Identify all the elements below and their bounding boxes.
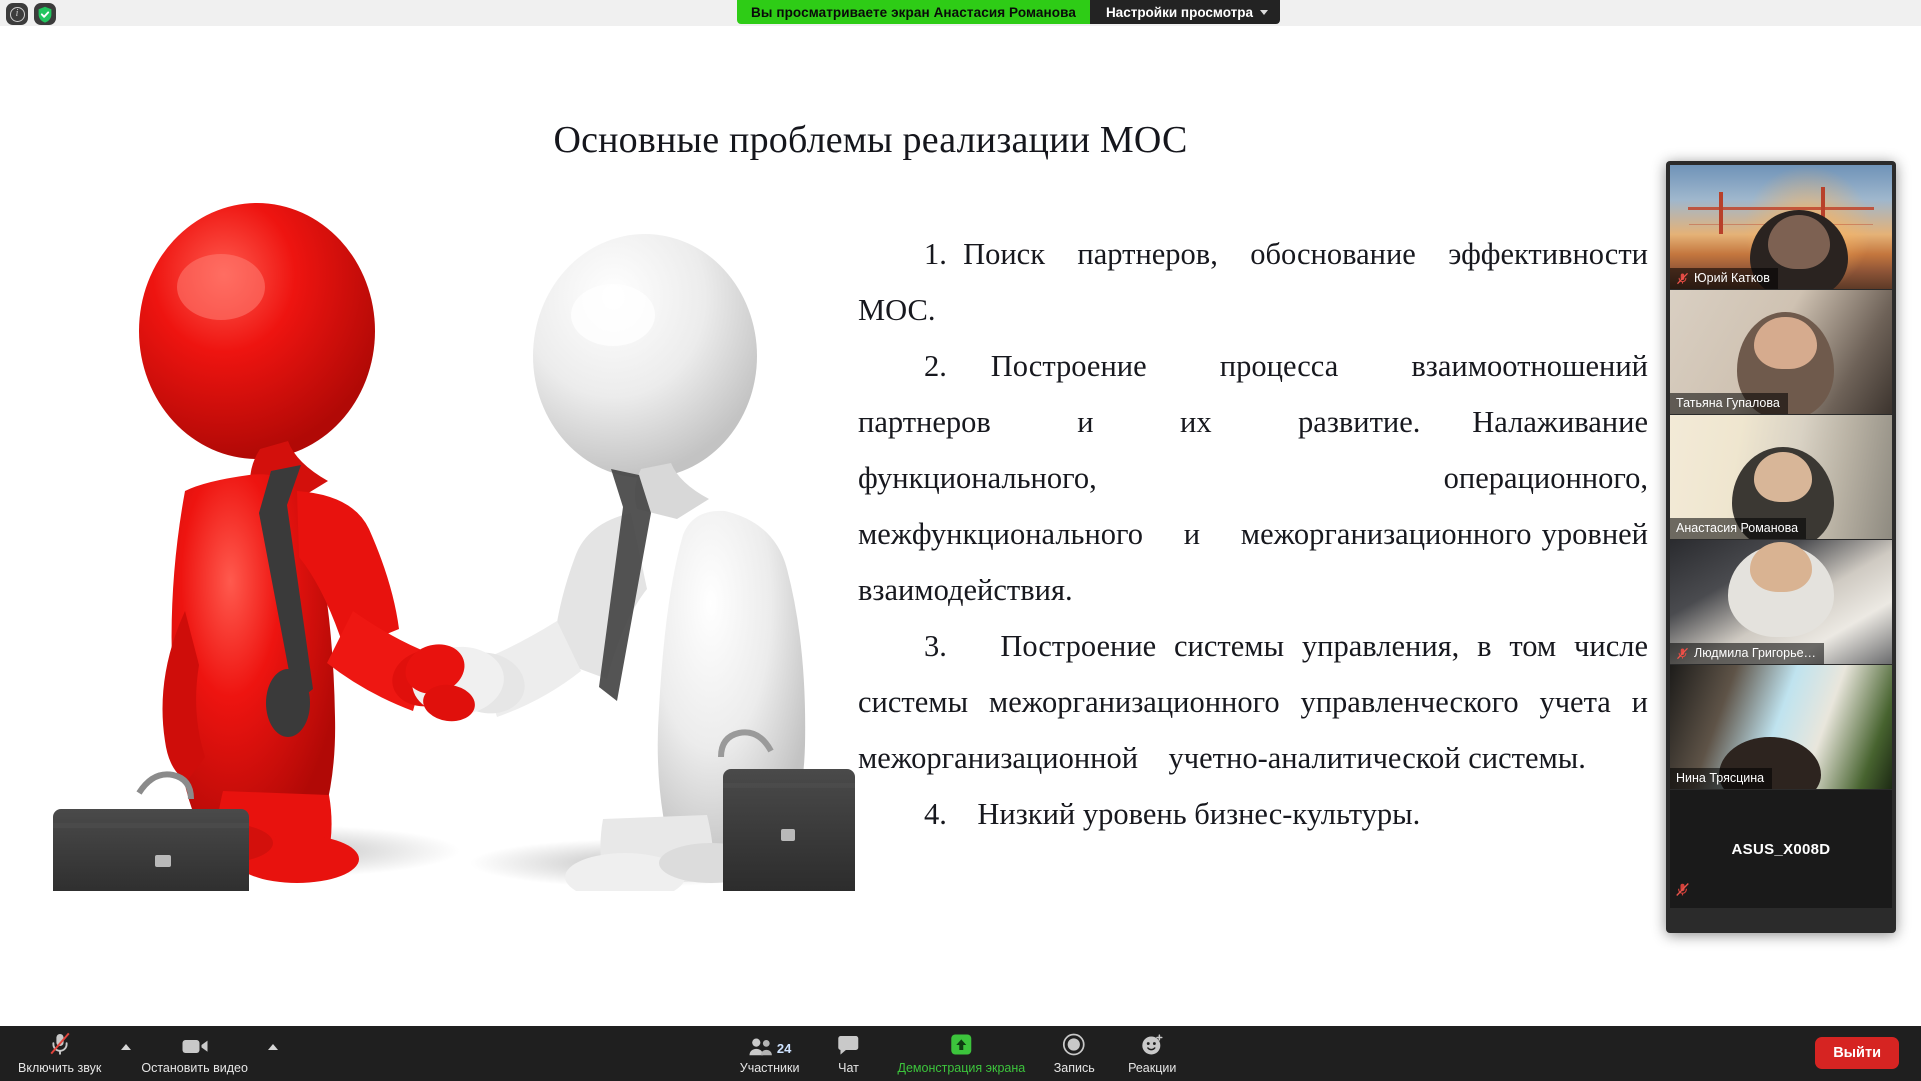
audio-control-group: Включить звук [8, 1026, 131, 1081]
encryption-status-button[interactable] [34, 3, 56, 25]
participant-name-text: Анастасия Романова [1676, 521, 1798, 535]
mic-muted-icon [48, 1032, 72, 1056]
participant-name-label-4: Людмила Григорье… [1670, 643, 1824, 664]
share-screen-icon [948, 1032, 974, 1056]
mic-muted-icon [1676, 647, 1689, 660]
record-label: Запись [1054, 1061, 1095, 1075]
chevron-down-icon [1260, 10, 1268, 15]
stop-video-button[interactable]: Остановить видео [131, 1032, 258, 1075]
participant-name-label-1: Юрий Катков [1670, 268, 1778, 289]
video-tile-participant-4[interactable]: Людмила Григорье… [1670, 540, 1892, 664]
participant-name-label-5: Нина Трясцина [1670, 768, 1772, 789]
participants-count: 24 [777, 1041, 791, 1056]
participant-name-text: Нина Трясцина [1676, 771, 1764, 785]
participant-face [1754, 452, 1812, 502]
shared-screen-area[interactable]: Основные проблемы реализации МОС 1. Поис… [0, 26, 1921, 1026]
participant-face [1750, 542, 1812, 592]
reactions-label: Реакции [1128, 1061, 1176, 1075]
chat-button[interactable]: Чат [809, 1026, 887, 1081]
participant-face [1768, 215, 1830, 270]
meeting-toolbar: Включить звук Остановить видео [0, 1026, 1921, 1081]
toolbar-right-group: Выйти [1815, 1037, 1899, 1069]
slide-paragraph-1: 1. Поиск партнеров, обоснование эффектив… [858, 226, 1648, 338]
video-tile-participant-2[interactable]: Татьяна Гупалова [1670, 290, 1892, 414]
share-screen-button[interactable]: Демонстрация экрана [887, 1026, 1035, 1081]
participant-video-filmstrip[interactable]: Юрий Катков Татьяна Гупалова [1666, 161, 1896, 933]
view-options-label: Настройки просмотра [1106, 5, 1253, 20]
slide-body-text: 1. Поиск партнеров, обоснование эффектив… [858, 226, 1648, 842]
slide-title: Основные проблемы реализации МОС [0, 118, 1921, 162]
slide-paragraph-4: 4. Низкий уровень бизнес-культуры. [858, 786, 1648, 842]
video-tile-participant-6[interactable]: ASUS_X008D [1670, 790, 1892, 908]
leave-meeting-button[interactable]: Выйти [1815, 1037, 1899, 1069]
handshake-figures-illustration [35, 191, 855, 891]
participants-icon: 24 [748, 1032, 791, 1056]
participants-label: Участники [740, 1061, 800, 1075]
slide-paragraph-3: 3. Построение системы управления, в том … [858, 618, 1648, 786]
video-tile-participant-1[interactable]: Юрий Катков [1670, 165, 1892, 289]
participants-button[interactable]: 24 Участники [730, 1026, 810, 1081]
screen-share-status-group: Вы просматриваете экран Анастасия Романо… [737, 0, 1280, 24]
audio-options-chevron-icon[interactable] [121, 1044, 131, 1050]
shield-check-icon [37, 6, 53, 23]
toolbar-left-group: Включить звук Остановить видео [8, 1026, 278, 1081]
participant-name-label-2: Татьяна Гупалова [1670, 393, 1788, 414]
unmute-audio-button[interactable]: Включить звук [8, 1032, 111, 1075]
reactions-button[interactable]: Реакции [1113, 1026, 1191, 1081]
video-control-group: Остановить видео [131, 1026, 278, 1081]
participant-name-text: Людмила Григорье… [1694, 646, 1816, 660]
view-options-button[interactable]: Настройки просмотра [1090, 0, 1280, 24]
record-button[interactable]: Запись [1035, 1026, 1113, 1081]
participant-face [1754, 317, 1816, 369]
video-options-chevron-icon[interactable] [268, 1044, 278, 1050]
top-left-button-group: i [6, 3, 56, 25]
top-status-bar: i Вы просматриваете экран Анастасия Рома… [0, 0, 1921, 26]
mic-muted-icon [1676, 272, 1689, 285]
participant-name-text: Юрий Катков [1694, 271, 1770, 285]
video-tile-participant-3[interactable]: Анастасия Романова [1670, 415, 1892, 539]
presentation-slide: Основные проблемы реализации МОС 1. Поис… [0, 26, 1921, 1026]
video-camera-icon [181, 1032, 209, 1056]
zoom-meeting-window: i Вы просматриваете экран Анастасия Рома… [0, 0, 1921, 1081]
sharing-status-banner: Вы просматриваете экран Анастасия Романо… [737, 0, 1090, 24]
video-tile-participant-5[interactable]: Нина Трясцина [1670, 665, 1892, 789]
share-screen-label: Демонстрация экрана [897, 1061, 1025, 1075]
video-button-label: Остановить видео [141, 1061, 248, 1075]
participant-name-label-3: Анастасия Романова [1670, 518, 1806, 539]
audio-button-label: Включить звук [18, 1061, 101, 1075]
toolbar-center-group: 24 Участники Чат Д [730, 1026, 1191, 1081]
record-circle-icon [1063, 1032, 1086, 1056]
chat-bubble-icon [836, 1032, 860, 1056]
info-icon: i [10, 7, 25, 22]
chat-label: Чат [838, 1061, 859, 1075]
mic-muted-icon [1675, 882, 1690, 902]
meeting-info-button[interactable]: i [6, 3, 28, 25]
bridge-tower-icon [1719, 192, 1723, 234]
reactions-smiley-icon [1140, 1032, 1164, 1056]
participant-display-name: ASUS_X008D [1732, 841, 1831, 858]
participant-name-text: Татьяна Гупалова [1676, 396, 1780, 410]
bridge-cable-icon [1688, 207, 1874, 210]
slide-paragraph-2: 2. Построение процесса взаимоотношений п… [858, 338, 1648, 618]
